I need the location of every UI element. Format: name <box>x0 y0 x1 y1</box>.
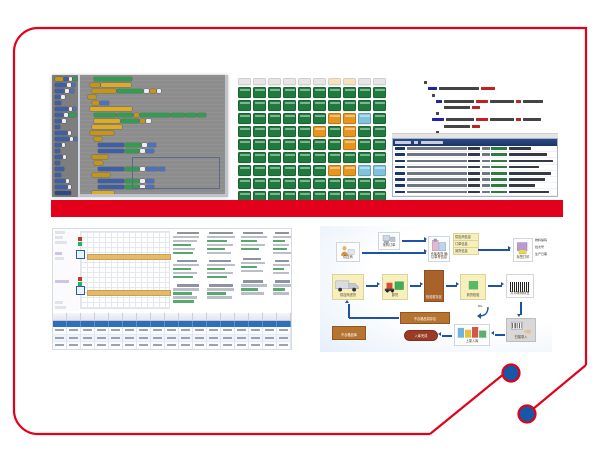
data-table[interactable] <box>53 313 291 349</box>
block-node[interactable] <box>92 89 228 94</box>
flow-node-label: 扫描录入 <box>515 336 528 340</box>
table-column-header[interactable] <box>235 313 249 320</box>
spreadsheet-screenshot[interactable] <box>52 228 292 350</box>
block-node[interactable] <box>98 143 228 148</box>
grid-cell[interactable] <box>313 87 326 98</box>
flow-arrowhead <box>456 282 459 286</box>
grid-cell[interactable] <box>238 139 251 150</box>
block-node[interactable] <box>88 95 228 100</box>
block-node[interactable] <box>90 83 228 88</box>
grid-cell[interactable] <box>253 100 266 111</box>
flow-node-label: 不合格品库 <box>341 334 357 338</box>
grid-cell[interactable] <box>343 165 356 176</box>
grid-cell[interactable] <box>328 113 341 124</box>
palette-item[interactable] <box>55 179 78 184</box>
flow-node-order-system[interactable]: 采购订单 <box>378 232 400 250</box>
grid-cell[interactable] <box>373 191 386 200</box>
grid-cell[interactable] <box>268 139 281 150</box>
grid-cell[interactable] <box>328 139 341 150</box>
flow-node-label: 供应商送货 <box>340 294 356 298</box>
flow-node-reject-store[interactable]: 不合格品库 <box>332 326 366 340</box>
flow-node-scan[interactable]: 扫描录入 <box>506 318 536 342</box>
grid-column-header <box>298 78 311 85</box>
flow-arrow <box>488 285 502 287</box>
grid-cell[interactable] <box>268 100 281 111</box>
grid-cell[interactable] <box>268 152 281 163</box>
table-column-header[interactable] <box>221 313 235 320</box>
palette-item[interactable] <box>55 113 78 118</box>
grid-cell[interactable] <box>328 87 341 98</box>
palette-item[interactable] <box>55 155 78 160</box>
palette-item[interactable] <box>55 107 78 112</box>
block-node[interactable] <box>92 101 228 106</box>
grid-cell[interactable] <box>358 113 371 124</box>
grid-cell[interactable] <box>238 87 251 98</box>
grid-cell[interactable] <box>298 126 311 137</box>
grid-cell[interactable] <box>298 152 311 163</box>
palette-item[interactable] <box>55 83 78 88</box>
grid-cell[interactable] <box>373 178 386 189</box>
grid-cell[interactable] <box>328 100 341 111</box>
gantt-node[interactable] <box>76 250 85 259</box>
flow-node-label: 标签打印 <box>517 256 530 260</box>
table-column-header[interactable] <box>123 313 137 320</box>
grid-cell[interactable] <box>373 113 386 124</box>
block-node[interactable] <box>94 113 228 118</box>
red-divider-banner <box>51 200 563 217</box>
grid-column-header <box>253 78 266 85</box>
flow-node-complete[interactable]: 入库完成 <box>404 330 438 341</box>
table-column-header[interactable] <box>207 313 221 320</box>
flow-tag-arrival-info: 到货信息 <box>453 247 479 255</box>
block-node[interactable] <box>94 77 228 82</box>
grid-cell[interactable] <box>313 191 326 200</box>
grid-cell[interactable] <box>283 191 296 200</box>
grid-cell[interactable] <box>328 126 341 137</box>
table-row[interactable] <box>53 335 291 343</box>
grid-cell[interactable] <box>343 113 356 124</box>
grid-cell[interactable] <box>268 178 281 189</box>
block-node[interactable] <box>98 149 228 154</box>
grid-cell[interactable] <box>358 87 371 98</box>
grid-cell[interactable] <box>313 139 326 150</box>
table-column-header[interactable] <box>249 313 263 320</box>
grid-cell[interactable] <box>283 87 296 98</box>
palette-item[interactable] <box>55 125 78 130</box>
grid-cell[interactable] <box>358 100 371 111</box>
grid-cell[interactable] <box>298 139 311 150</box>
console-title-bar <box>393 139 557 146</box>
grid-column-header <box>328 78 341 85</box>
flow-node-unload[interactable]: 卸货 <box>382 274 408 300</box>
grid-cell[interactable] <box>373 126 386 137</box>
grid-cell[interactable] <box>253 191 266 200</box>
detail-columns <box>173 230 290 310</box>
block-node[interactable] <box>94 137 228 142</box>
code-line <box>394 81 556 84</box>
log-row[interactable] <box>393 196 557 198</box>
grid-cell[interactable] <box>358 191 371 200</box>
block-group-outline <box>132 157 220 189</box>
table-column-header[interactable] <box>193 313 207 320</box>
grid-cell[interactable] <box>253 152 266 163</box>
flow-arrow <box>349 317 399 319</box>
table-row[interactable] <box>53 342 291 350</box>
gantt-marker[interactable] <box>78 277 82 281</box>
code-line <box>394 106 556 109</box>
grid-cell[interactable] <box>283 178 296 189</box>
gantt-marker[interactable] <box>78 242 82 246</box>
grid-cell[interactable] <box>238 152 251 163</box>
code-line <box>394 87 556 90</box>
flow-arrowhead <box>501 282 504 286</box>
flow-node-label: 上架入库 <box>466 340 479 344</box>
grid-cell[interactable] <box>268 165 281 176</box>
gantt-sidebar[interactable] <box>53 229 79 311</box>
flow-node-receiving-desk[interactable]: 仓库收货 确认单号信息 <box>428 236 450 262</box>
palette-item[interactable] <box>55 143 78 148</box>
grid-cell[interactable] <box>268 191 281 200</box>
grid-cell[interactable] <box>358 126 371 137</box>
gantt-node[interactable] <box>76 286 85 295</box>
flow-arrowhead <box>508 246 511 250</box>
blocks-palette[interactable] <box>52 75 80 197</box>
grid-cell[interactable] <box>343 100 356 111</box>
flow-node-supplier[interactable]: 供应商 <box>336 242 360 262</box>
palette-item[interactable] <box>55 185 78 190</box>
table-column-header[interactable] <box>109 313 123 320</box>
grid-cell[interactable] <box>298 100 311 111</box>
flow-node-reject-area[interactable]: 不合格品暂存区 <box>400 312 450 324</box>
status-grid-screenshot[interactable] <box>238 78 386 200</box>
flow-tag-material-code: 物料编码 <box>535 238 547 242</box>
grid-column-header <box>358 78 371 85</box>
grid-cell[interactable] <box>328 165 341 176</box>
grid-cell[interactable] <box>238 126 251 137</box>
flow-node-label: 检验暂存区 <box>426 296 442 300</box>
grid-cell[interactable] <box>343 126 356 137</box>
palette-item[interactable] <box>55 101 78 106</box>
flow-arrow <box>495 334 505 336</box>
code-console-screenshot[interactable] <box>392 75 558 197</box>
grid-cell[interactable] <box>268 126 281 137</box>
gantt-grid[interactable] <box>80 231 170 309</box>
grid-cell[interactable] <box>298 191 311 200</box>
grid-column-header <box>268 78 281 85</box>
grid-column-header <box>313 78 326 85</box>
grid-cell[interactable] <box>313 100 326 111</box>
gantt-area[interactable] <box>53 229 291 311</box>
flow-arrow <box>348 304 350 318</box>
flow-tag-production-date: 生产日期 <box>535 252 547 256</box>
gantt-marker[interactable] <box>78 237 82 241</box>
grid-column-header <box>238 78 251 85</box>
grid-cell[interactable] <box>253 87 266 98</box>
blocks-vertical-scrollbar[interactable] <box>225 75 228 197</box>
grid-cell[interactable] <box>358 178 371 189</box>
table-row[interactable] <box>53 327 291 335</box>
palette-item[interactable] <box>55 119 78 124</box>
grid-cell[interactable] <box>328 191 341 200</box>
grid-cell[interactable] <box>373 87 386 98</box>
grid-cell[interactable] <box>343 87 356 98</box>
grid-cell[interactable] <box>328 152 341 163</box>
table-column-header[interactable] <box>277 313 291 320</box>
flow-arrowhead <box>377 282 380 286</box>
flow-node-quality-check[interactable]: 到货检验 <box>460 274 486 300</box>
grid-cell[interactable] <box>313 152 326 163</box>
code-editor[interactable] <box>392 75 558 133</box>
grid-cell[interactable] <box>358 165 371 176</box>
grid-cell[interactable] <box>238 191 251 200</box>
grid-cell[interactable] <box>313 113 326 124</box>
palette-item[interactable] <box>55 191 78 196</box>
flow-node-barcode-label[interactable]: 打印条码标签 <box>506 274 534 298</box>
code-line <box>394 118 556 121</box>
code-line <box>394 112 556 115</box>
table-column-header[interactable] <box>95 313 109 320</box>
blocks-editor-screenshot[interactable] <box>52 75 228 197</box>
grid-cell[interactable] <box>268 87 281 98</box>
grid-cell[interactable] <box>313 165 326 176</box>
flow-node-label: 供应商 <box>343 256 353 260</box>
grid-cell[interactable] <box>283 100 296 111</box>
grid-cell[interactable] <box>253 139 266 150</box>
flow-arrowhead <box>424 249 427 253</box>
code-line <box>394 100 556 103</box>
table-column-header[interactable] <box>263 313 277 320</box>
flow-arrow <box>478 249 510 251</box>
flow-node-label: 入库完成 <box>415 335 428 339</box>
grid-cell[interactable] <box>268 113 281 124</box>
flow-arrowhead <box>517 314 521 317</box>
table-column-header[interactable] <box>67 313 81 320</box>
flow-arrow <box>362 252 426 254</box>
grid-column-header <box>283 78 296 85</box>
grid-cell[interactable] <box>313 126 326 137</box>
palette-item[interactable] <box>55 131 78 136</box>
flow-tag-batch-no: 批次号 <box>535 245 544 249</box>
grid-cell[interactable] <box>298 165 311 176</box>
flow-arrow <box>442 335 452 337</box>
palette-item[interactable] <box>55 173 78 178</box>
grid-cell[interactable] <box>373 165 386 176</box>
grid-cell[interactable] <box>283 139 296 150</box>
table-column-header[interactable] <box>81 313 95 320</box>
flow-node-label-print[interactable]: 标签打印 <box>513 238 533 262</box>
flow-arrowhead <box>424 237 427 241</box>
table-row[interactable] <box>53 350 291 351</box>
grid-cell[interactable] <box>313 178 326 189</box>
code-line <box>394 125 556 128</box>
flow-node-label: 不合格品暂存区 <box>414 318 436 322</box>
palette-item[interactable] <box>55 137 78 142</box>
logistics-flow-diagram[interactable]: 供应商 采购订单 仓库收货 确认单号信息 供应商信息 订单信息 到货信息 标签打… <box>320 226 552 352</box>
grid-cell[interactable] <box>328 178 341 189</box>
console-output-panel[interactable] <box>392 138 558 197</box>
grid-column-header <box>373 78 386 85</box>
grid-cell[interactable] <box>253 113 266 124</box>
table-column-header[interactable] <box>165 313 179 320</box>
blocks-horizontal-scrollbar[interactable] <box>80 194 228 197</box>
flow-curve-ng <box>476 306 492 320</box>
grid-cell[interactable] <box>238 165 251 176</box>
gantt-marker[interactable] <box>78 282 82 286</box>
flow-node-truck[interactable]: 供应商送货 <box>332 274 364 300</box>
grid-cell[interactable] <box>238 113 251 124</box>
flow-node-label: 卸货 <box>392 294 398 298</box>
grid-cell[interactable] <box>358 139 371 150</box>
block-node[interactable] <box>92 125 228 130</box>
block-node[interactable] <box>94 119 228 124</box>
grid-cell[interactable] <box>343 152 356 163</box>
grid-cell[interactable] <box>238 178 251 189</box>
flow-node-inspect-area[interactable]: 检验暂存区 <box>424 270 444 302</box>
palette-item[interactable] <box>55 95 78 100</box>
flow-node-shelving[interactable]: 上架入库 <box>454 324 490 346</box>
grid-cell[interactable] <box>283 126 296 137</box>
palette-item[interactable] <box>55 161 78 166</box>
flow-node-label: 打印条码标签 <box>510 292 529 296</box>
flow-arrowhead <box>438 332 441 336</box>
blocks-canvas[interactable] <box>80 75 228 197</box>
grid-cell[interactable] <box>358 152 371 163</box>
table-column-header-row[interactable] <box>53 313 291 321</box>
palette-item[interactable] <box>55 149 78 154</box>
flow-arrowhead <box>345 300 349 303</box>
table-column-header[interactable] <box>137 313 151 320</box>
table-column-header[interactable] <box>53 313 67 320</box>
grid-cell[interactable] <box>283 152 296 163</box>
grid-cell[interactable] <box>373 139 386 150</box>
grid-cell[interactable] <box>343 139 356 150</box>
table-column-header[interactable] <box>179 313 193 320</box>
status-grid[interactable] <box>238 78 386 200</box>
grid-cell[interactable] <box>253 126 266 137</box>
code-line <box>394 94 556 97</box>
grid-cell[interactable] <box>283 165 296 176</box>
palette-item[interactable] <box>55 167 78 172</box>
grid-cell[interactable] <box>343 178 356 189</box>
grid-cell[interactable] <box>373 100 386 111</box>
grid-cell[interactable] <box>283 113 296 124</box>
flow-node-label: 到货检验 <box>467 294 480 298</box>
flow-arrowhead <box>491 331 494 335</box>
gantt-bar[interactable] <box>87 290 171 296</box>
grid-cell[interactable] <box>298 178 311 189</box>
grid-cell[interactable] <box>343 191 356 200</box>
grid-cell[interactable] <box>373 152 386 163</box>
flow-arrowhead <box>420 282 423 286</box>
grid-cell[interactable] <box>253 165 266 176</box>
grid-cell[interactable] <box>238 100 251 111</box>
flow-arrow <box>402 240 426 242</box>
grid-cell[interactable] <box>298 113 311 124</box>
gantt-bar[interactable] <box>87 254 171 260</box>
flow-node-label: 采购订单 <box>383 244 396 248</box>
grid-column-header <box>343 78 356 85</box>
block-node[interactable] <box>90 107 228 112</box>
palette-item[interactable] <box>55 89 78 94</box>
grid-cell[interactable] <box>253 178 266 189</box>
slide-canvas: 供应商 采购订单 仓库收货 确认单号信息 供应商信息 订单信息 到货信息 标签打… <box>0 0 600 450</box>
flow-node-label: 仓库收货 确认单号信息 <box>430 253 448 260</box>
block-node[interactable] <box>90 131 228 136</box>
palette-item[interactable] <box>55 77 78 82</box>
grid-cell[interactable] <box>298 87 311 98</box>
table-column-header[interactable] <box>151 313 165 320</box>
